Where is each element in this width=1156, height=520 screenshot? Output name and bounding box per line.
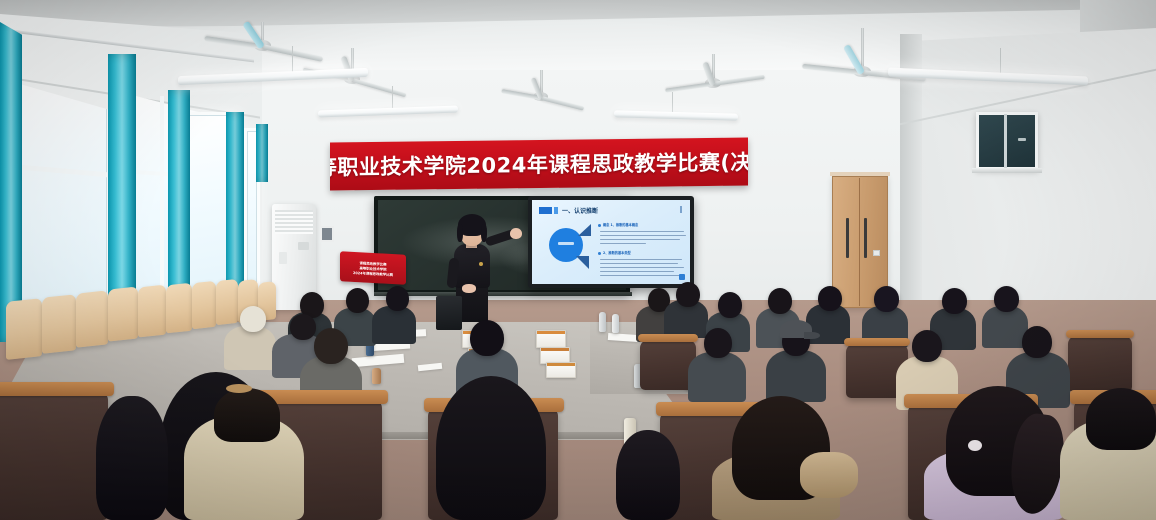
ac-vent-grille <box>275 210 313 234</box>
person-7-head <box>676 282 700 307</box>
presenter-torso <box>454 244 490 288</box>
slide-section1-line-2 <box>600 235 686 236</box>
nameplate-6 <box>546 362 576 378</box>
person-3-head <box>386 286 409 311</box>
chair-front-1[interactable] <box>0 392 108 520</box>
chair-mid-3-rail <box>1066 330 1134 338</box>
side-sign-line-3: 2024年课程思政教学比赛 <box>353 269 393 276</box>
person-19-head <box>314 328 348 364</box>
ac-display-panel[interactable] <box>298 242 309 250</box>
slide-section1-bullet <box>598 224 601 227</box>
slide-section1-line-4 <box>600 243 646 244</box>
event-banner: 高等职业技术学院2024年课程思政教学比赛(决赛) <box>330 137 748 190</box>
wall-switch-icon[interactable] <box>873 250 880 256</box>
empty-chair-6[interactable] <box>166 283 192 334</box>
presenter-hand-lower <box>462 284 476 293</box>
person-22-hairclip-icon <box>968 440 982 451</box>
nameplate-6-band <box>547 363 575 366</box>
person-13-head <box>994 286 1019 312</box>
slide-bullet-line-4 <box>600 271 674 272</box>
person-4-body <box>224 326 276 370</box>
door-handle-right[interactable] <box>864 218 867 258</box>
person-24-hair <box>214 388 280 442</box>
empty-chair-5[interactable] <box>138 285 166 338</box>
chair-mid-1-rail <box>638 334 698 342</box>
bottle-1 <box>599 312 606 332</box>
empty-chair-1[interactable] <box>6 298 42 360</box>
classroom-photo-scene: 高等职业技术学院2024年课程思政教学比赛(决赛) 一、认识推断 概念 1、推断… <box>0 0 1156 520</box>
slide-logo <box>679 274 685 280</box>
slide-title-accent-2 <box>554 207 558 214</box>
presenter-hair-side-left <box>457 224 463 242</box>
presentation-slide: 一、认识推断 概念 1、推断的基本概念 2、推断的基本类型 <box>532 200 690 284</box>
person-18-head <box>470 320 504 356</box>
nameplate-4 <box>536 330 566 348</box>
person-23-hair <box>1086 388 1156 450</box>
presenter-badge-icon <box>479 262 483 266</box>
window-latch-icon[interactable] <box>1018 138 1026 141</box>
slide-bullet-line-3 <box>600 267 684 268</box>
person-15-body <box>766 350 826 402</box>
person-14-head <box>704 328 732 358</box>
person-16-head <box>912 330 942 362</box>
slide-corner-mark <box>680 206 685 213</box>
person-11-head <box>874 286 899 312</box>
smart-display[interactable]: 一、认识推断 概念 1、推断的基本概念 2、推断的基本类型 <box>528 196 694 288</box>
nameplate-5-band <box>541 348 569 351</box>
ac-logo <box>279 252 287 264</box>
bottle-2 <box>612 314 619 333</box>
window-sill <box>972 168 1042 173</box>
window-sash-vertical <box>1004 114 1007 168</box>
person-3-body <box>372 306 416 344</box>
slide-bullet-line-1 <box>600 259 682 260</box>
curtain-4 <box>226 112 244 308</box>
slide-section1-head: 概念 1、推断的基本概念 <box>603 222 638 227</box>
slide-bullet-line-2 <box>600 263 678 264</box>
slide-section1-line-3 <box>600 239 680 240</box>
person-27-hair <box>616 430 680 520</box>
ac-wall-box-icon <box>320 226 334 242</box>
laptop-screen[interactable] <box>436 296 462 330</box>
empty-chair-2[interactable] <box>42 294 76 354</box>
person-4-head <box>240 306 266 332</box>
person-21-hair <box>436 376 546 520</box>
slide-section1-line-1 <box>600 231 684 232</box>
person-24-hairband-icon <box>226 384 252 393</box>
door-handle-left[interactable] <box>846 218 849 258</box>
person-12-head <box>942 288 967 314</box>
door-center-seam <box>859 178 860 306</box>
empty-chair-7[interactable] <box>192 281 216 330</box>
high-casement-window[interactable] <box>976 112 1038 170</box>
person-10-head <box>818 286 842 311</box>
person-15-cap-brim-icon <box>804 332 820 339</box>
slide-wedge-top <box>578 224 591 236</box>
door-frame-top <box>830 172 890 176</box>
person-14-body <box>688 352 746 402</box>
empty-chair-3[interactable] <box>76 290 108 347</box>
presenter-hair-side-right <box>481 224 487 242</box>
person-5-head <box>290 314 316 340</box>
bottle-7 <box>372 368 381 384</box>
chair-front-1-rail <box>0 382 114 396</box>
person-2-head <box>346 288 369 313</box>
person-25-fur-collar-icon <box>800 452 858 498</box>
nameplate-4-band <box>537 331 565 334</box>
curtain-5 <box>256 124 268 182</box>
window-2-vert-mullion <box>160 96 164 316</box>
empty-chair-4[interactable] <box>108 286 138 341</box>
banner-text: 高等职业技术学院2024年课程思政教学比赛(决赛) <box>330 146 748 182</box>
fan-5-rod <box>861 28 864 70</box>
slide-title-accent-1 <box>539 207 552 214</box>
chalk-tray <box>374 292 632 296</box>
person-8-head <box>718 292 742 318</box>
presenter-hand-raised <box>510 228 522 239</box>
tube-light-3-wire <box>672 92 673 114</box>
empty-chair-8[interactable] <box>216 279 238 325</box>
slide-wedge-bottom <box>576 256 589 269</box>
slide-section2-head: 2、推断的基本类型 <box>603 250 631 255</box>
person-26-hair <box>96 396 168 520</box>
slide-title: 一、认识推断 <box>562 206 598 215</box>
chair-mid-2-rail <box>844 338 910 346</box>
person-9-head <box>768 288 792 314</box>
side-competition-sign: 课程思政教学比赛 高等职业技术学院 2024年课程思政教学比赛 <box>340 251 406 284</box>
person-17-head <box>1022 326 1052 358</box>
chair-mid-3[interactable] <box>1068 336 1132 392</box>
slide-pie-label <box>558 242 574 245</box>
slide-bullet-line-5 <box>600 275 680 276</box>
tube-light-2-wire <box>392 86 393 110</box>
curtain-1 <box>0 22 22 342</box>
slide-section2-bullet <box>598 252 601 255</box>
